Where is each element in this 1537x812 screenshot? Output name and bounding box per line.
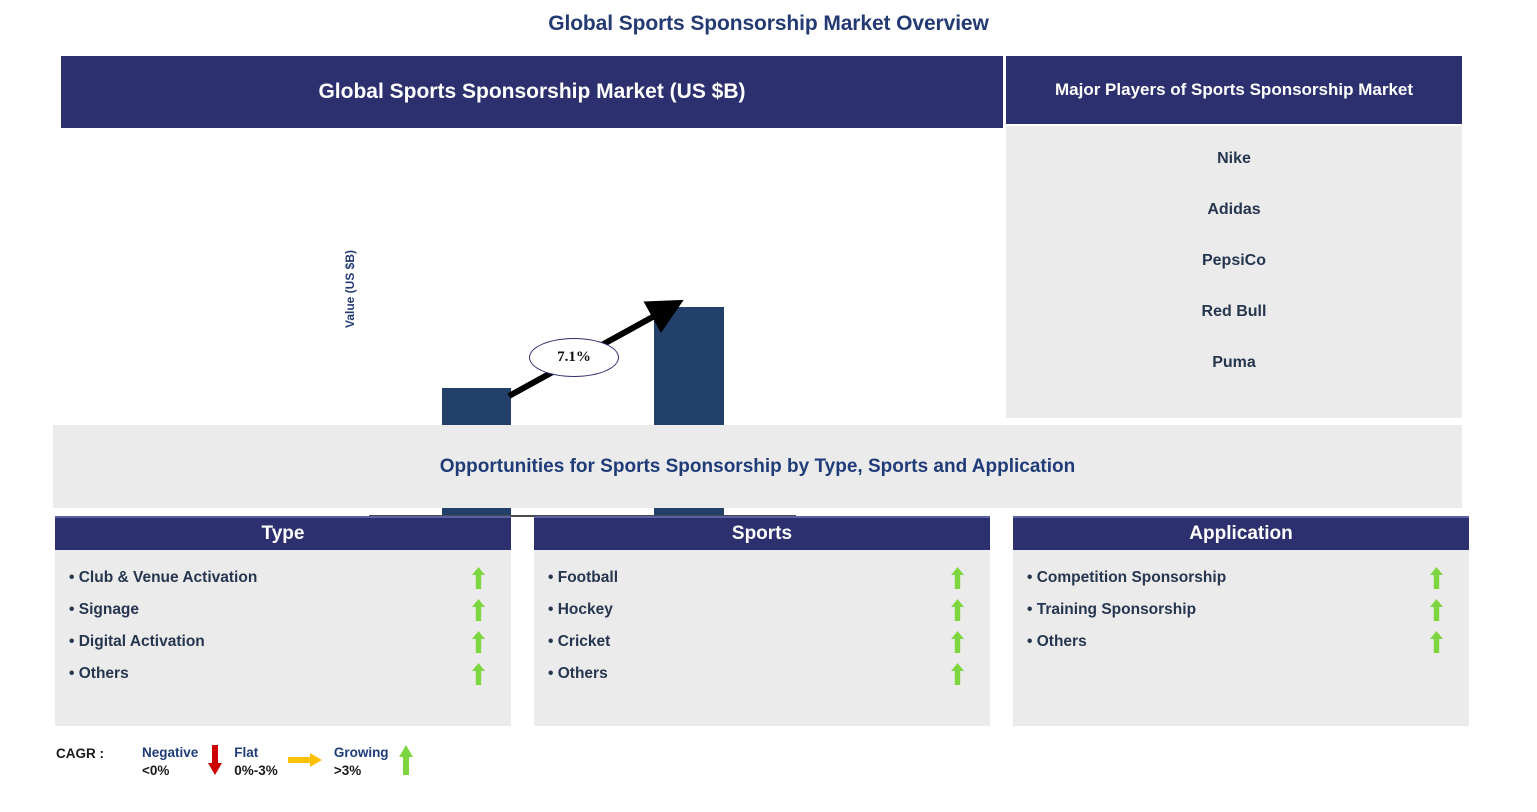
list-item-label: • Digital Activation [69, 633, 205, 651]
legend-entry-negative-range: <0% [142, 763, 169, 778]
list-item: • Digital Activation [69, 626, 497, 658]
list-item: • Others [1027, 626, 1455, 658]
cagr-legend-title: CAGR : [56, 744, 104, 761]
players-panel-body: Nike Adidas PepsiCo Red Bull Puma [1006, 126, 1462, 418]
arrow-up-icon [951, 663, 964, 685]
legend-entry-flat-text: Flat 0%-3% [234, 744, 278, 780]
player-item: PepsiCo [1006, 252, 1462, 270]
category-card-sports: Sports • Football • Hockey • Cricket • O… [534, 516, 990, 726]
legend-entry-negative-name: Negative [142, 745, 198, 760]
list-item: • Others [69, 658, 497, 690]
arrow-up-icon [1430, 567, 1443, 589]
list-item: • Football [548, 562, 976, 594]
arrow-up-icon [951, 567, 964, 589]
y-axis-title: Value (US $B) [343, 308, 357, 328]
list-item: • Competition Sponsorship [1027, 562, 1455, 594]
list-item-label: • Signage [69, 601, 139, 619]
legend-entry-growing-text: Growing >3% [334, 744, 389, 780]
list-item-label: • Others [1027, 633, 1087, 651]
arrow-up-icon [1430, 599, 1443, 621]
category-header-type: Type [55, 516, 511, 550]
players-panel-header: Major Players of Sports Sponsorship Mark… [1006, 56, 1462, 124]
player-item: Adidas [1006, 201, 1462, 219]
bar-chart: Value (US $B) 2025 2031 7.1% Source : Lu… [61, 128, 1003, 420]
arrow-up-icon [1430, 631, 1443, 653]
opportunities-band: Opportunities for Sports Sponsorship by … [53, 425, 1462, 508]
opportunities-title: Opportunities for Sports Sponsorship by … [53, 425, 1462, 508]
list-item-label: • Hockey [548, 601, 613, 619]
list-item-label: • Competition Sponsorship [1027, 569, 1226, 587]
category-card-type: Type • Club & Venue Activation • Signage… [55, 516, 511, 726]
arrow-up-icon [472, 663, 485, 685]
legend-entry-growing-name: Growing [334, 745, 389, 760]
category-body-sports: • Football • Hockey • Cricket • Others [534, 550, 990, 726]
cagr-legend: CAGR : Negative <0% Flat 0%-3% Growing >… [56, 744, 425, 780]
list-item-label: • Club & Venue Activation [69, 569, 257, 587]
arrow-up-icon [399, 744, 413, 775]
list-item: • Club & Venue Activation [69, 562, 497, 594]
category-card-application: Application • Competition Sponsorship • … [1013, 516, 1469, 726]
legend-entry-flat-range: 0%-3% [234, 763, 278, 778]
list-item: • Cricket [548, 626, 976, 658]
legend-entry-negative: Negative <0% [142, 744, 230, 780]
category-body-type: • Club & Venue Activation • Signage • Di… [55, 550, 511, 726]
arrow-up-icon [472, 631, 485, 653]
list-item: • Training Sponsorship [1027, 594, 1455, 626]
category-header-sports: Sports [534, 516, 990, 550]
player-item: Puma [1006, 354, 1462, 372]
list-item-label: • Football [548, 569, 618, 587]
list-item-label: • Others [548, 665, 608, 683]
infographic-page: Global Sports Sponsorship Market Overvie… [0, 0, 1537, 812]
cagr-callout: 7.1% [529, 338, 619, 377]
arrow-up-icon [951, 631, 964, 653]
arrow-right-icon [288, 744, 322, 780]
player-item: Nike [1006, 150, 1462, 168]
page-title: Global Sports Sponsorship Market Overvie… [0, 12, 1537, 36]
list-item-label: • Cricket [548, 633, 610, 651]
list-item-label: • Training Sponsorship [1027, 601, 1196, 619]
legend-entry-growing-range: >3% [334, 763, 361, 778]
player-item: Red Bull [1006, 303, 1462, 321]
category-header-application: Application [1013, 516, 1469, 550]
list-item: • Signage [69, 594, 497, 626]
legend-entry-growing: Growing >3% [334, 744, 421, 780]
arrow-up-icon [472, 567, 485, 589]
arrow-down-icon [208, 744, 222, 775]
list-item: • Others [548, 658, 976, 690]
category-body-application: • Competition Sponsorship • Training Spo… [1013, 550, 1469, 726]
chart-panel-header: Global Sports Sponsorship Market (US $B) [61, 56, 1003, 128]
arrow-up-icon [472, 599, 485, 621]
arrow-up-icon [951, 599, 964, 621]
legend-entry-flat: Flat 0%-3% [234, 744, 330, 780]
legend-entry-flat-name: Flat [234, 745, 258, 760]
list-item-label: • Others [69, 665, 129, 683]
legend-entry-negative-text: Negative <0% [142, 744, 198, 780]
list-item: • Hockey [548, 594, 976, 626]
chart-panel-title: Global Sports Sponsorship Market (US $B) [61, 56, 1003, 128]
